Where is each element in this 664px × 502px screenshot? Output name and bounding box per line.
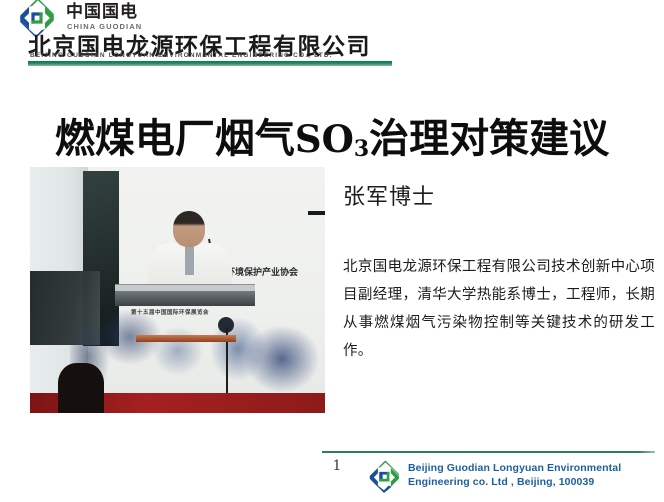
title-part1: 燃煤电厂烟气 (55, 116, 295, 162)
photo-backdrop-tab (308, 211, 325, 215)
speaker-photo: 中国环境保护产业协会 第十五届中国国际环保展览会 (30, 167, 325, 413)
footer-guodian-interlock-logo-icon (365, 459, 403, 493)
slide-root: 中国国电 CHINA GUODIAN 北京国电龙源环保工程有限公司 BEIJIN… (0, 0, 664, 502)
photo-lectern-desk-top (115, 285, 255, 291)
header-accent-bar (28, 61, 392, 66)
brand-name-cn: 中国国电 (66, 2, 138, 22)
photo-event-banner-text: 第十五届中国国际环保展览会 (131, 308, 209, 316)
title-chem-symbol: SO (295, 117, 354, 161)
footer-divider (322, 451, 655, 453)
photo-event-banner: 第十五届中国国际环保展览会 (116, 307, 316, 323)
title-part2: 治理对策建议 (369, 116, 609, 162)
speaker-name: 张军博士 (343, 179, 435, 211)
title-chemical-formula: SO3 (295, 117, 369, 161)
slide-header: 中国国电 CHINA GUODIAN 北京国电龙源环保工程有限公司 BEIJIN… (0, 0, 664, 70)
photo-speaker-tie (185, 245, 194, 275)
footer-line-1: Beijing Guodian Longyuan Environmental (408, 461, 621, 475)
footer-line-2: Engineering co. Ltd , Beijing, 100039 (408, 475, 621, 489)
speaker-bio: 北京国电龙源环保工程有限公司技术创新中心项目副经理，清华大学热能系博士，工程师，… (343, 253, 655, 365)
company-name-en: BEIJING GUODIAN LONGYUAN ENVIRONMENTAL E… (30, 52, 333, 59)
page-title: 燃煤电厂烟气SO3治理对策建议 (0, 106, 664, 164)
photo-speaker-head (173, 211, 205, 247)
footer-company-text: Beijing Guodian Longyuan Environmental E… (408, 461, 621, 489)
photo-foreground-figure (58, 363, 104, 413)
title-chem-subscript: 3 (354, 136, 369, 162)
page-number: 1 (323, 458, 351, 474)
